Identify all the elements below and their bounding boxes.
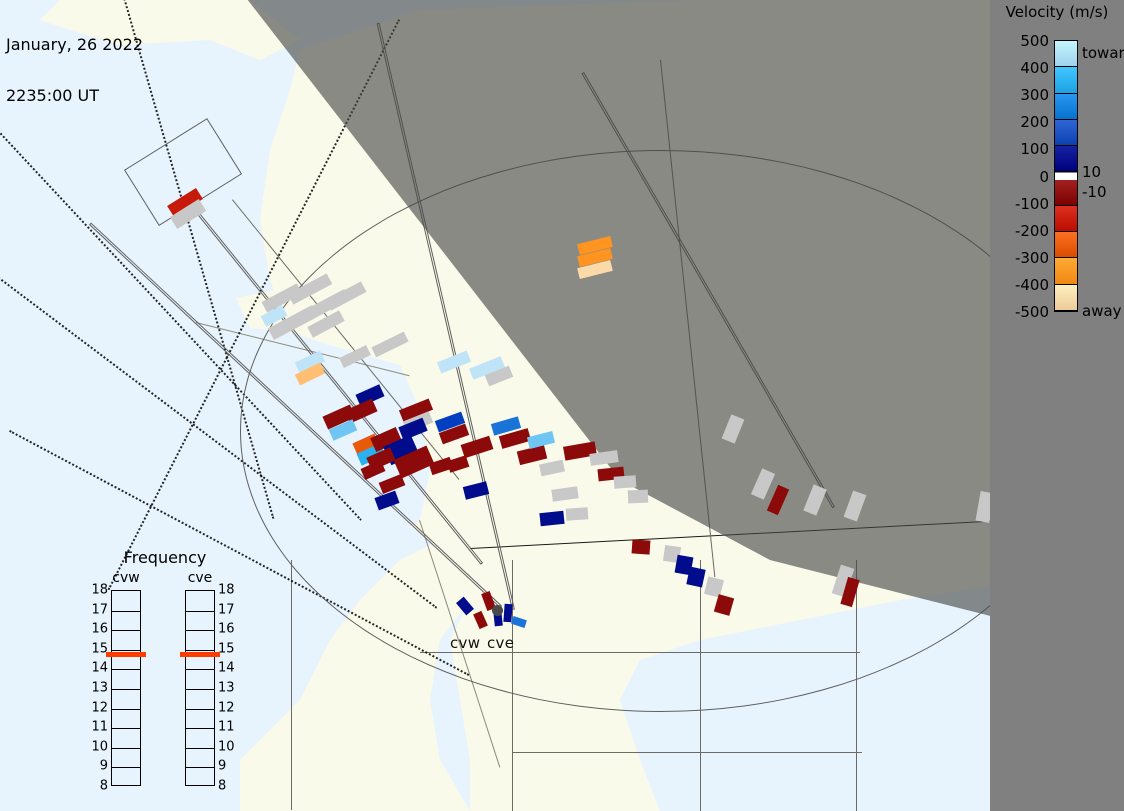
colorbar-tick-label: -400 (1015, 276, 1049, 294)
frequency-marker-cve (180, 652, 220, 657)
frequency-scale-label: 13 (218, 681, 240, 696)
frequency-scale-divider (186, 709, 214, 710)
frequency-scale-label: 12 (218, 700, 240, 715)
colorbar-band (1055, 232, 1077, 258)
radar-cell (437, 350, 471, 373)
frequency-scale-divider (186, 748, 214, 749)
colorbar-band (1055, 180, 1077, 206)
frequency-scale-divider (112, 709, 140, 710)
frequency-scale-label: 16 (218, 622, 240, 637)
frequency-scale-label: 11 (86, 720, 108, 735)
radar-cell (803, 484, 826, 515)
frequency-scale-label: 9 (218, 759, 240, 774)
colorbar-toward-label: toward (1082, 44, 1124, 62)
radar-cell (473, 611, 488, 629)
radar-cell (722, 414, 745, 443)
colorbar-deadband (1055, 173, 1077, 180)
colorbar-band (1055, 258, 1077, 284)
colorbar-negative-deadband-label: -10 (1082, 183, 1107, 201)
radar-cell (461, 436, 494, 459)
frequency-scale-divider (186, 669, 214, 670)
frequency-marker-cvw (106, 652, 146, 657)
frequency-bar-cve (185, 590, 215, 786)
frequency-scale-label: 15 (218, 641, 240, 656)
frequency-column-label-cvw: cvw (104, 570, 148, 586)
colorbar-tick-label: 200 (1020, 113, 1049, 131)
frequency-scale-divider (112, 689, 140, 690)
colorbar-band (1055, 67, 1077, 93)
radar-cell (539, 511, 564, 526)
colorbar-tick-label: 500 (1020, 32, 1049, 50)
radar-cell (751, 468, 775, 499)
colorbar-tick-label: 300 (1020, 86, 1049, 104)
frequency-scale-label: 10 (86, 739, 108, 754)
radar-cell (456, 597, 474, 616)
radar-cell (844, 490, 867, 521)
colorbar-band (1055, 206, 1077, 232)
colorbar-tick-label: -300 (1015, 249, 1049, 267)
colorbar-band (1055, 41, 1077, 67)
site-label-cve: cve (487, 634, 514, 652)
radar-cell (589, 450, 618, 466)
colorbar-tick-label: -500 (1015, 303, 1049, 321)
frequency-scale-divider (112, 650, 140, 651)
frequency-scale-divider (112, 611, 140, 612)
frequency-scale-label: 14 (218, 661, 240, 676)
frequency-scale-divider (186, 728, 214, 729)
radar-cell (463, 481, 489, 499)
radar-cell (632, 539, 651, 554)
frequency-scale-label: 12 (86, 700, 108, 715)
radar-cell (339, 345, 371, 368)
radar-cell (714, 594, 734, 616)
frequency-scale-divider (186, 650, 214, 651)
radar-cell (566, 507, 589, 521)
radar-fan-plot: cvw cve January, 26 2022 2235:00 UT Velo… (0, 0, 1124, 811)
frequency-scale-divider (186, 767, 214, 768)
frequency-scale-label: 18 (218, 583, 240, 598)
frequency-scale-label: 10 (218, 739, 240, 754)
colorbar-positive-deadband-label: 10 (1082, 163, 1101, 181)
frequency-scale-label: 16 (86, 622, 108, 637)
frequency-legend: Frequency cvw cve 1818171716161515141413… (90, 548, 240, 788)
radar-cell (511, 616, 527, 628)
radar-cell (371, 332, 408, 358)
colorbar-band (1055, 285, 1077, 311)
colorbar-band (1055, 146, 1077, 172)
radar-cell (326, 281, 367, 310)
frequency-scale-divider (112, 767, 140, 768)
colorbar-away-label: away (1082, 302, 1122, 320)
frequency-scale-label: 13 (86, 681, 108, 696)
frequency-scale-label: 14 (86, 661, 108, 676)
colorbar-tick-label: 100 (1020, 140, 1049, 158)
colorbar-title: Velocity (m/s) (990, 3, 1124, 21)
radar-cell (374, 491, 399, 511)
colorbar-band (1055, 94, 1077, 120)
frequency-scale-divider (186, 689, 214, 690)
radar-site-marker (492, 605, 503, 616)
frequency-legend-title: Frequency (90, 548, 240, 567)
frequency-scale-label: 11 (218, 720, 240, 735)
plot-date: January, 26 2022 (6, 36, 143, 53)
frequency-scale-label: 15 (86, 641, 108, 656)
radar-cell (614, 475, 637, 489)
frequency-scale-label: 17 (86, 602, 108, 617)
radar-cell (767, 485, 789, 515)
colorbar-band (1055, 120, 1077, 146)
velocity-colorbar-panel: Velocity (m/s) 5004003002001000-100-200-… (990, 0, 1124, 811)
frequency-scale-label: 8 (218, 779, 240, 794)
frequency-scale-label: 9 (86, 759, 108, 774)
plot-timestamp: January, 26 2022 2235:00 UT (6, 2, 143, 138)
frequency-scale-divider (112, 630, 140, 631)
colorbar-strip (1054, 40, 1078, 312)
radar-cell (628, 490, 648, 504)
frequency-column-label-cve: cve (178, 570, 222, 586)
frequency-scale-divider (186, 630, 214, 631)
frequency-scale-divider (112, 748, 140, 749)
colorbar-tick-label: 400 (1020, 59, 1049, 77)
colorbar-tick-label: 0 (1039, 168, 1049, 186)
radar-cell (551, 486, 578, 502)
site-label-cvw: cvw (450, 634, 480, 652)
frequency-scale-divider (112, 728, 140, 729)
radar-cell (686, 567, 705, 588)
frequency-scale-label: 8 (86, 779, 108, 794)
frequency-scale-label: 17 (218, 602, 240, 617)
colorbar-tick-label: -200 (1015, 222, 1049, 240)
frequency-scale-divider (186, 611, 214, 612)
colorbar-tick-label: -100 (1015, 195, 1049, 213)
radar-cell (539, 460, 565, 477)
frequency-scale-divider (112, 669, 140, 670)
frequency-bar-cvw (111, 590, 141, 786)
frequency-scale-label: 18 (86, 583, 108, 598)
plot-time: 2235:00 UT (6, 87, 143, 104)
